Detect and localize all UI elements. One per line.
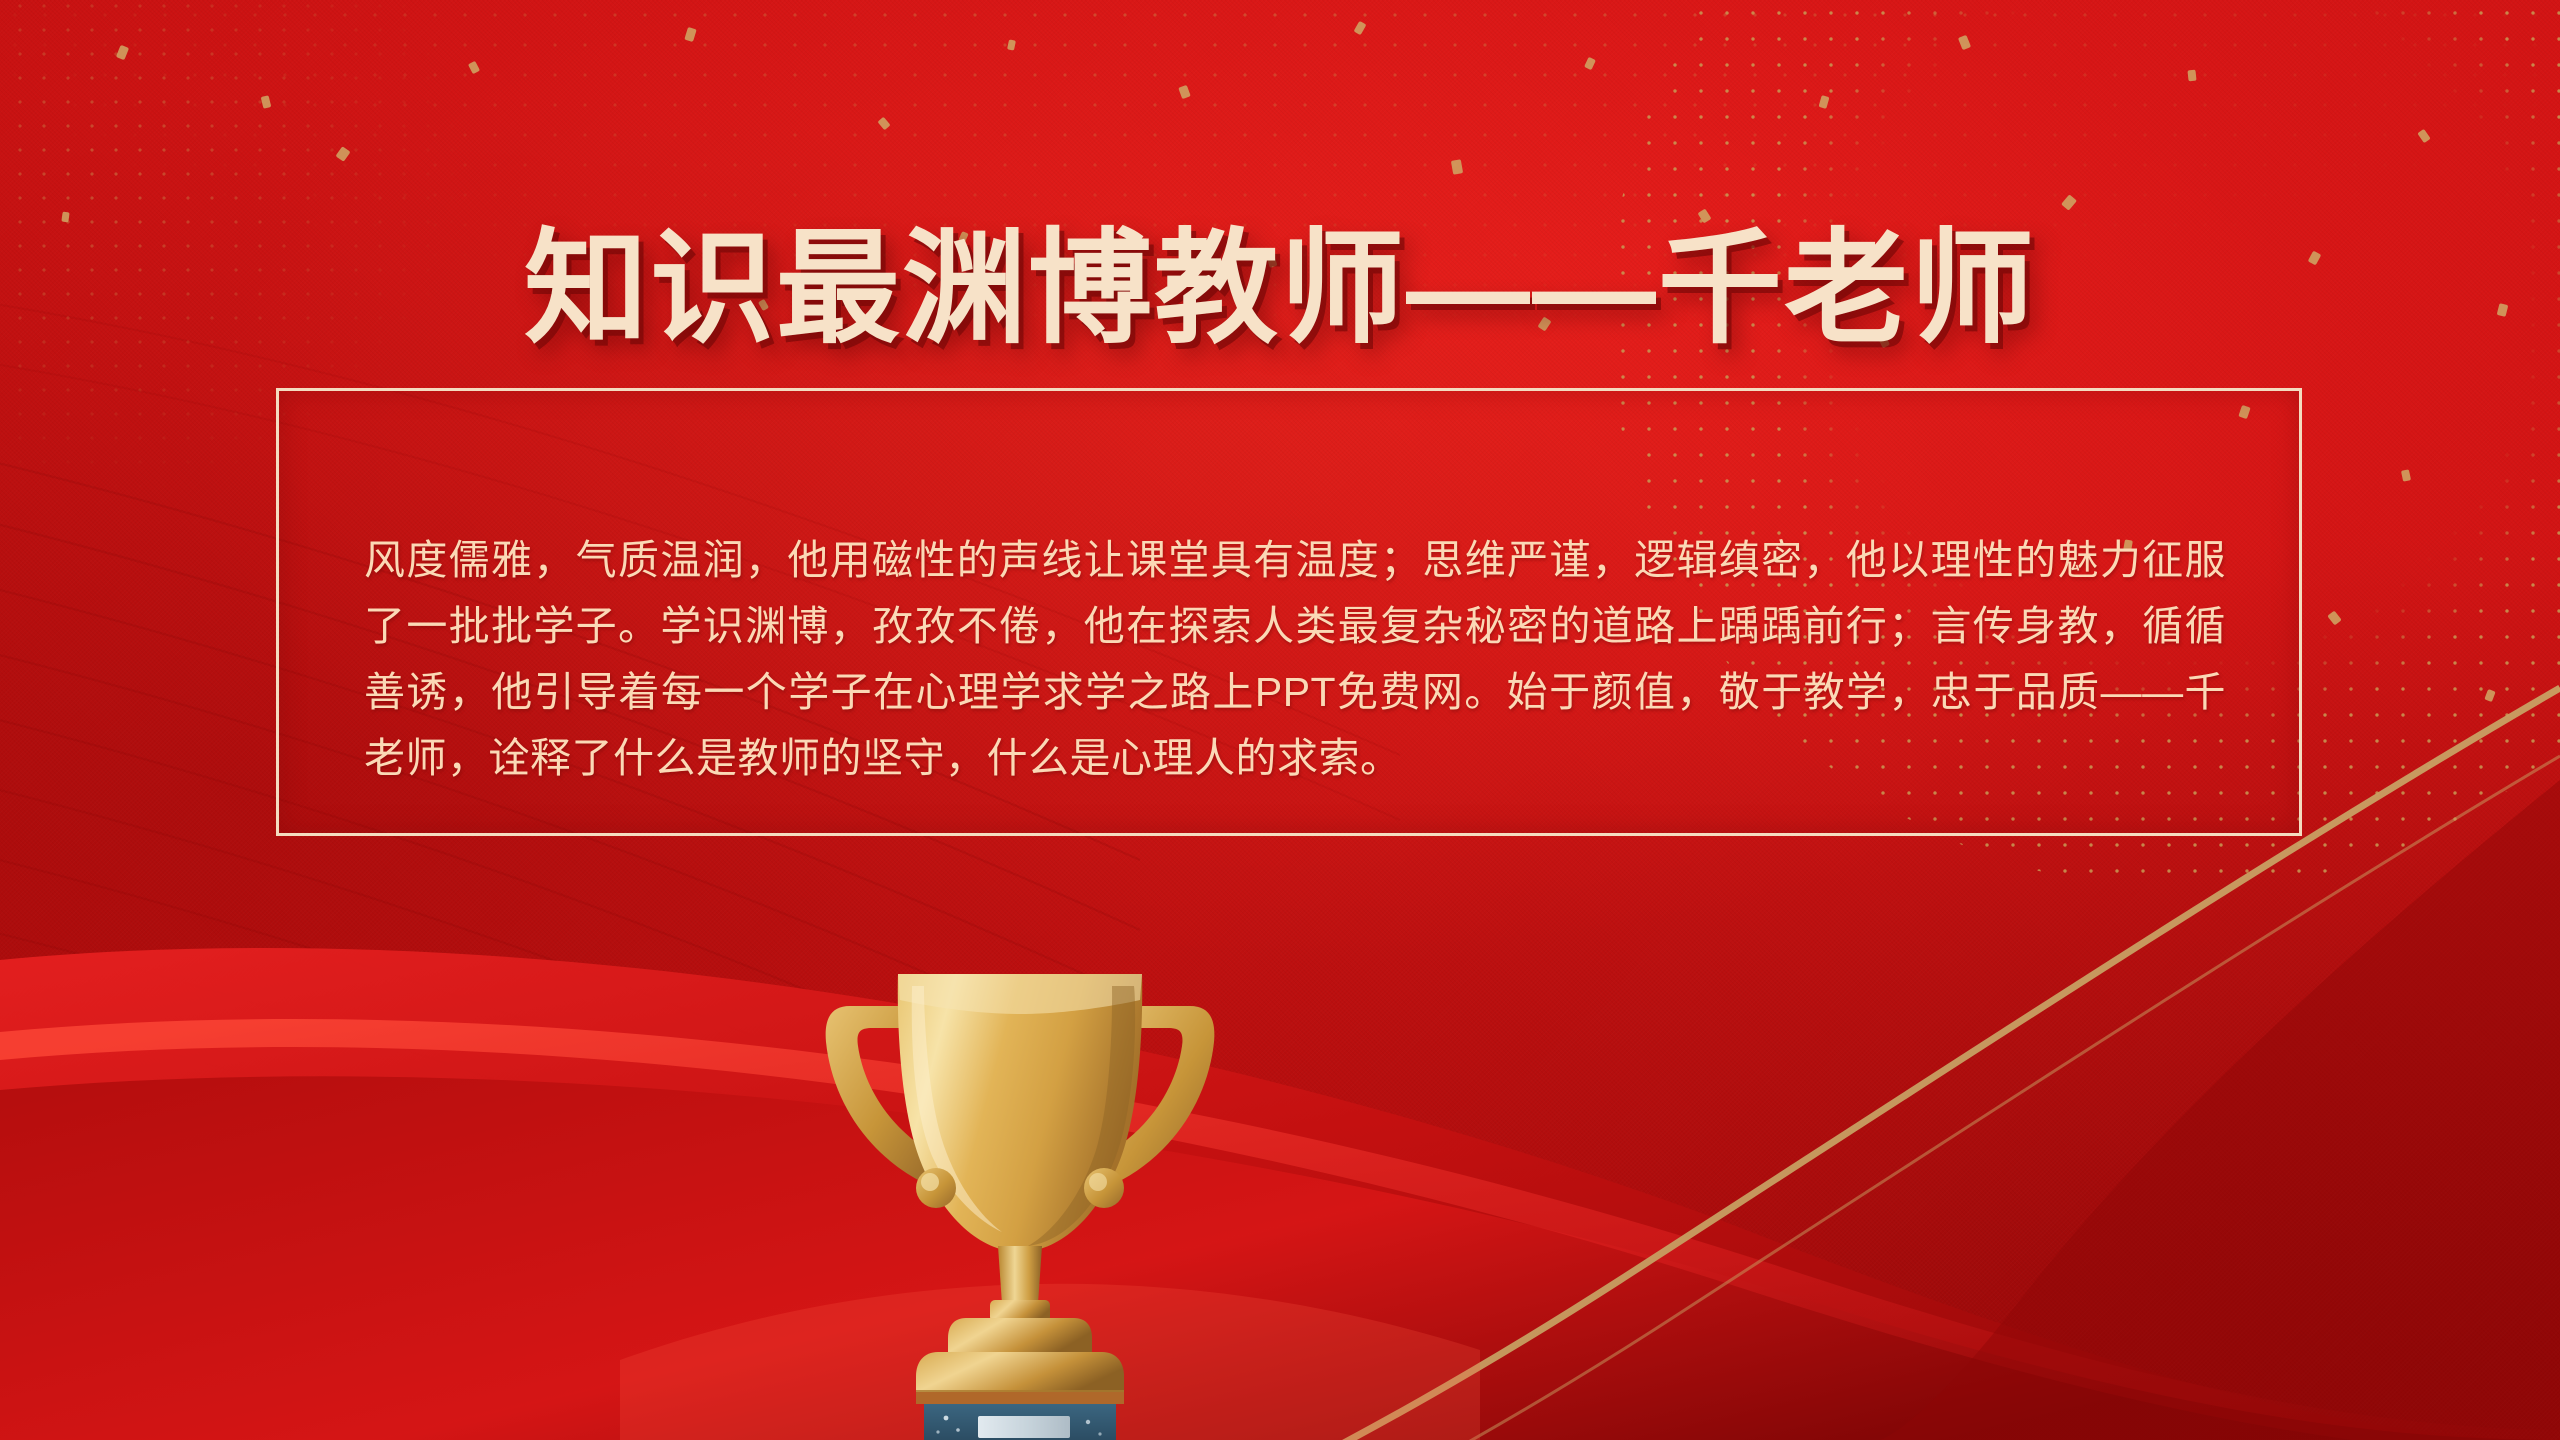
presentation-slide: 知识最渊博教师——千老师 风度儒雅，气质温润，他用磁性的声线让课堂具有温度；思维… [0,0,2560,1440]
body-paragraph: 风度儒雅，气质温润，他用磁性的声线让课堂具有温度；思维严谨，逻辑缜密，他以理性的… [364,527,2226,791]
page-title: 知识最渊博教师——千老师 [0,221,2560,357]
